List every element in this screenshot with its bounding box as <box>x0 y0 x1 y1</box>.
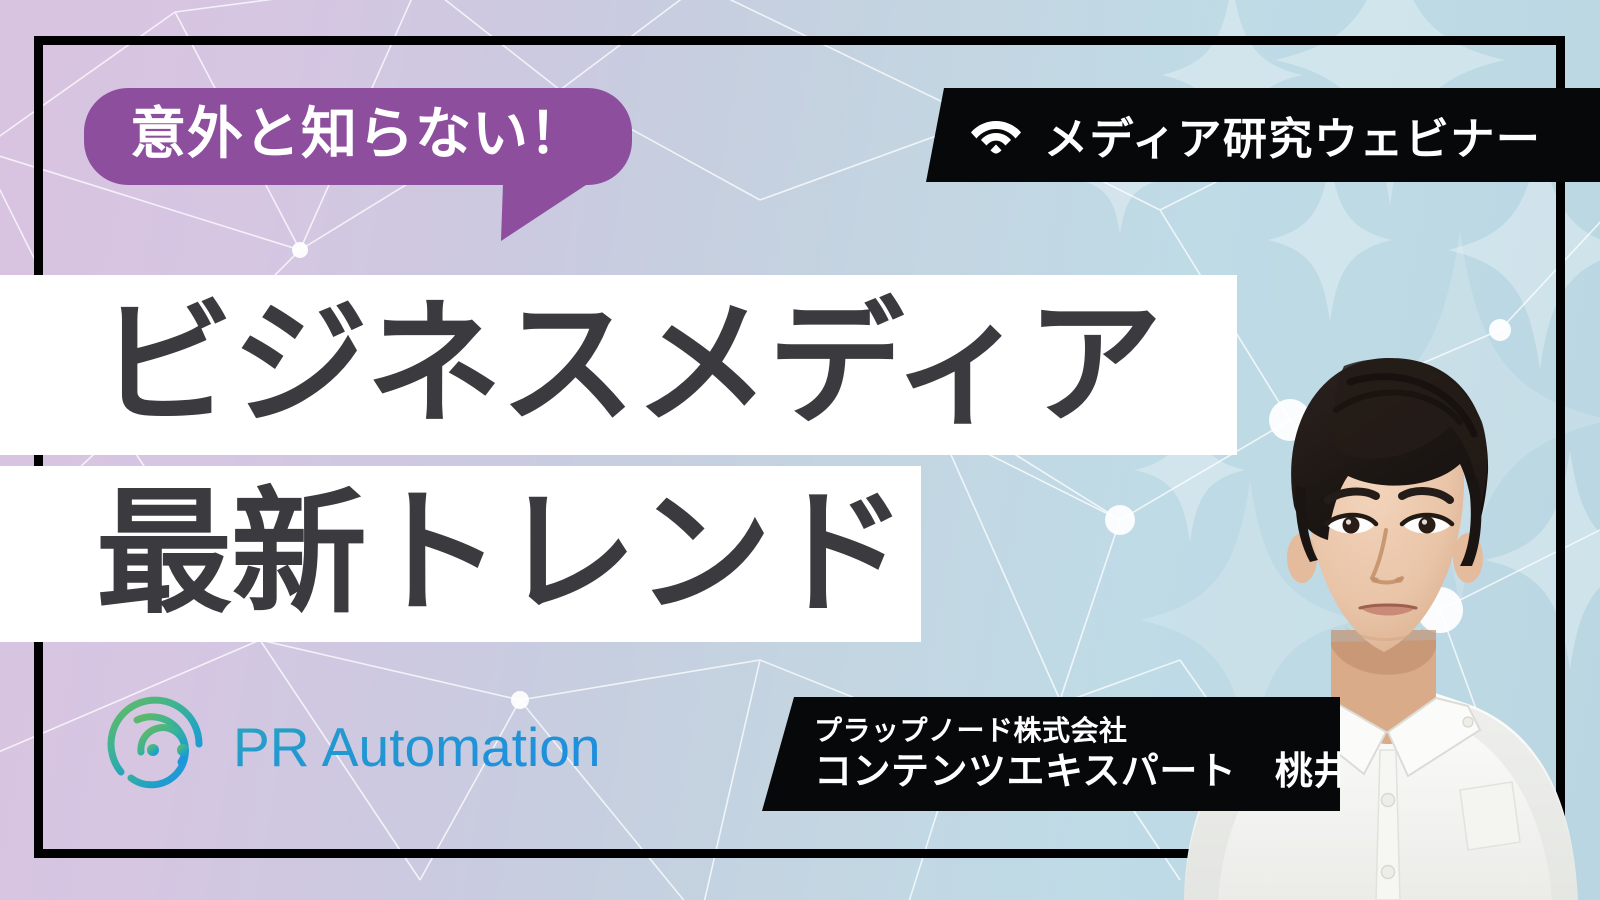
bubble-body: 意外と知らない！ <box>84 88 632 185</box>
badge-label: メディア研究ウェビナー <box>1044 103 1541 167</box>
svg-text:PR Automation: PR Automation <box>233 717 601 778</box>
title-band-line2: 最新トレンド <box>0 466 921 642</box>
bubble-text: 意外と知らない！ <box>130 105 586 165</box>
title-line1: ビジネスメディア <box>0 297 1160 433</box>
speaker-nameplate: プラップノード株式会社 コンテンツエキスパート 桃井克典 <box>762 697 1340 811</box>
speaker-name: コンテンツエキスパート 桃井克典 <box>814 749 1340 793</box>
title-band-line1: ビジネスメディア <box>0 275 1237 455</box>
brand-logo: PR Automation <box>103 694 651 804</box>
speaker-company: プラップノード株式会社 <box>814 714 1340 747</box>
spiral-swirl-icon <box>103 694 211 804</box>
catchphrase-bubble: 意外と知らない！ <box>84 88 632 185</box>
logo-wordmark: PR Automation <box>233 717 651 781</box>
slide-canvas: 意外と知らない！ メディア研究ウェビナー ビジネスメディア 最新トレンド <box>0 0 1600 900</box>
wifi-icon <box>970 115 1022 155</box>
bubble-tail-icon <box>501 183 589 241</box>
webinar-category-badge: メディア研究ウェビナー <box>918 88 1600 182</box>
title-line2: 最新トレンド <box>0 486 906 622</box>
